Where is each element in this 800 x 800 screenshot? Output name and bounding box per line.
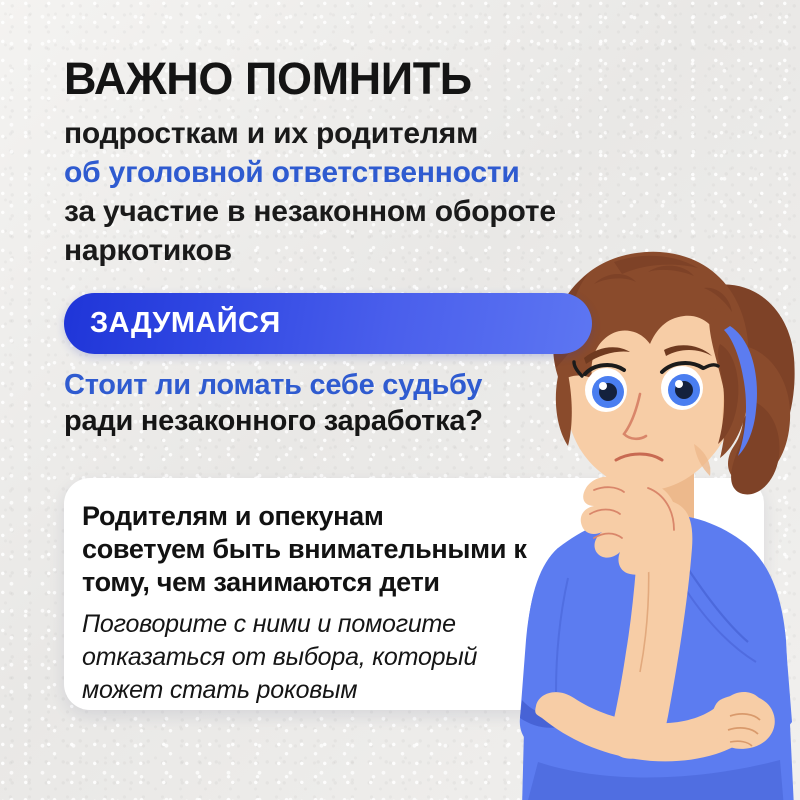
subheading-line-1: подросткам и их родителям xyxy=(64,117,478,150)
question-plain-line: ради незаконного заработка? xyxy=(64,405,483,437)
poster-canvas: ВАЖНО ПОМНИТЬ подросткам и их родителям … xyxy=(0,0,800,800)
advice-card-heading: Родителям и опекунам советуем быть внима… xyxy=(82,500,552,599)
advice-card-note: Поговорите с ними и помогите отказаться … xyxy=(82,608,522,707)
question-accent-line: Стоит ли ломать себе судьбу xyxy=(64,369,482,401)
advice-heading-part-2: советуем xyxy=(82,534,212,564)
advice-heading-part-1: Родителям и опекунам xyxy=(82,501,384,531)
think-banner-label: ЗАДУМАЙСЯ xyxy=(90,307,281,340)
page-title: ВАЖНО ПОМНИТЬ xyxy=(64,54,472,104)
subheading-block: подросткам и их родителям об уголовной о… xyxy=(64,114,594,270)
subheading-accent-line: об уголовной ответственности xyxy=(64,156,520,189)
subheading-line-4: наркотиков xyxy=(64,234,232,267)
question-block: Стоит ли ломать себе судьбу ради незакон… xyxy=(64,367,584,439)
subheading-line-3: за участие в незаконном обороте xyxy=(64,195,556,228)
think-banner: ЗАДУМАЙСЯ xyxy=(64,293,592,354)
